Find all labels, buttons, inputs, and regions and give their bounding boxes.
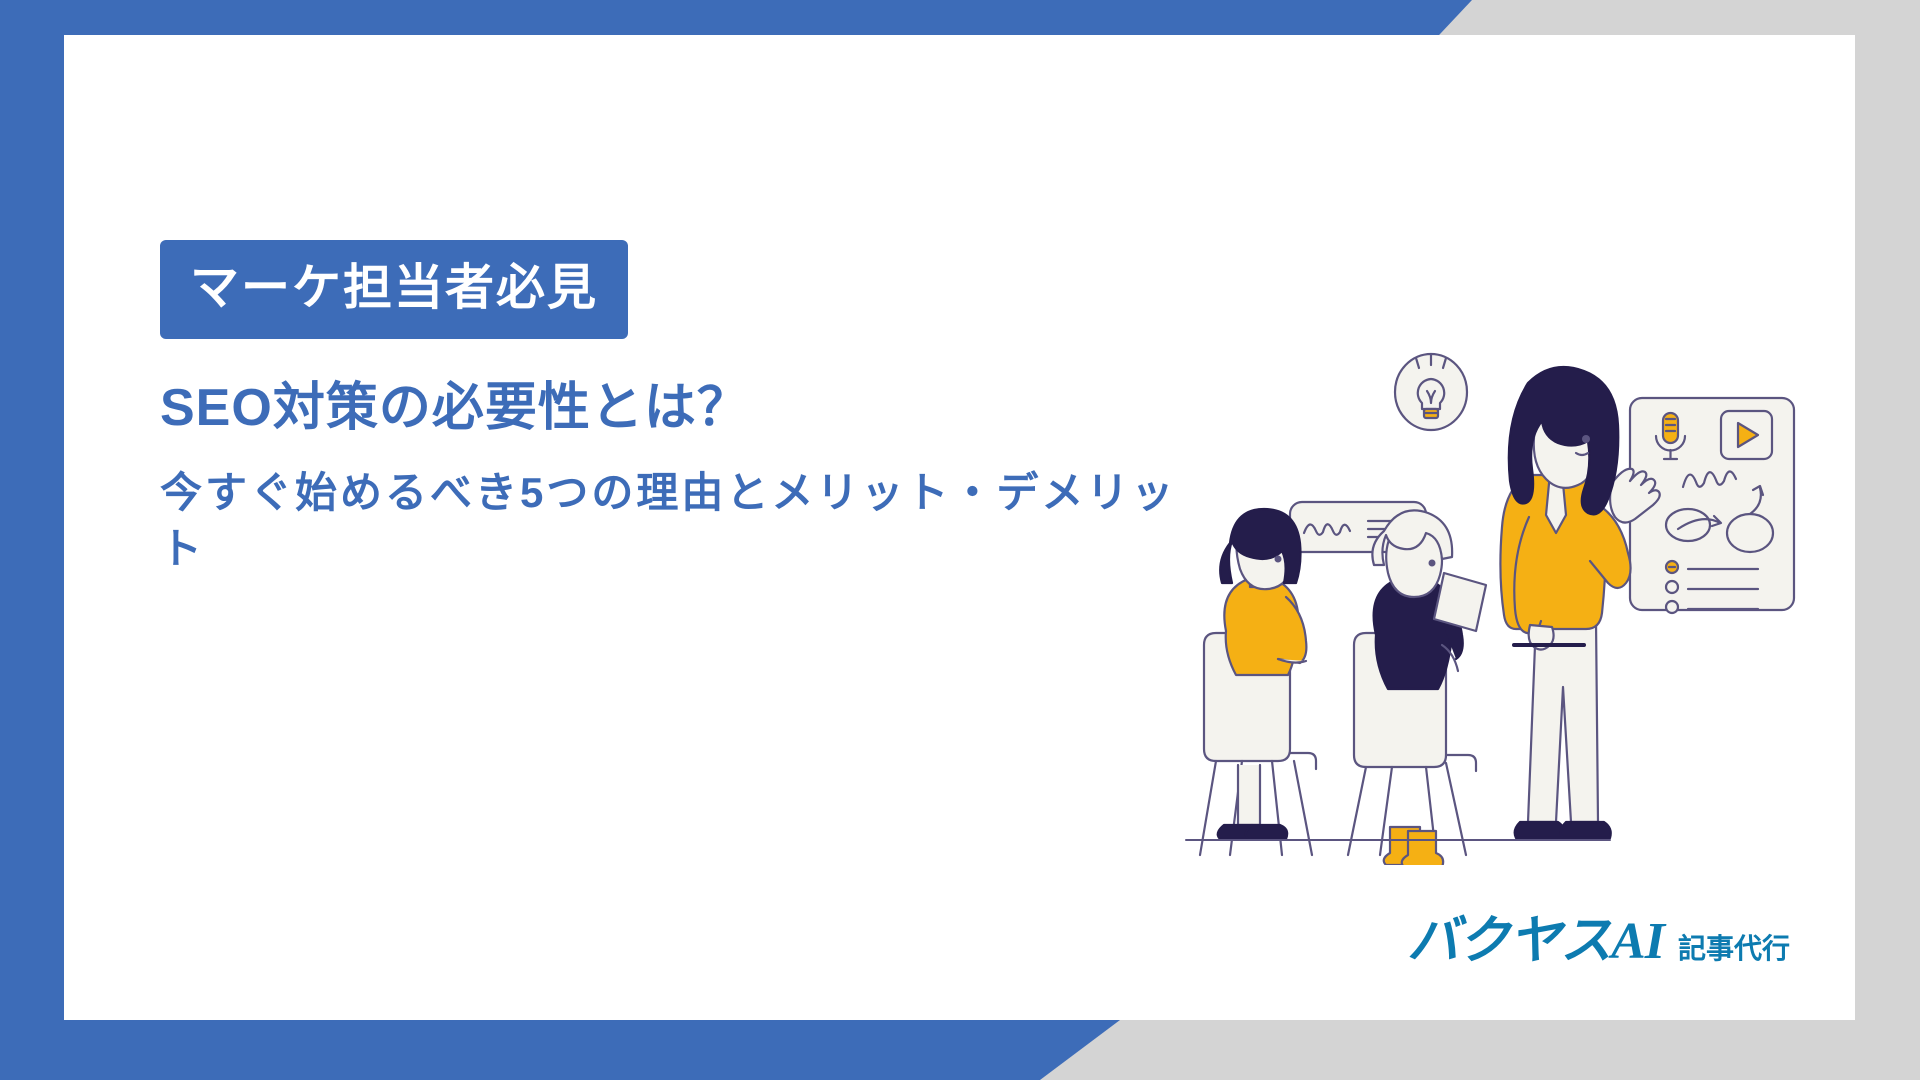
play-button-icon <box>1721 411 1772 459</box>
brand-logo-main: バクヤスAI <box>1407 916 1664 968</box>
audience-person-two-seated <box>1348 510 1486 865</box>
page-title: SEO対策の必要性とは？ <box>160 379 1200 439</box>
category-badge: マーケ担当者必見 <box>160 240 628 339</box>
lightbulb-thought-bubble <box>1395 354 1467 430</box>
bottom-left-blue-band <box>0 1020 1120 1080</box>
left-blue-strip-top <box>0 0 64 1080</box>
hero-text-block: マーケ担当者必見 SEO対策の必要性とは？ 今すぐ始めるべき5つの理由とメリット… <box>160 240 1200 578</box>
audience-person-one-seated <box>1200 509 1316 855</box>
presentation-illustration <box>1180 335 1840 865</box>
page-subtitle: 今すぐ始めるべき5つの理由とメリット・デメリット <box>160 465 1200 578</box>
whiteboard-panel <box>1630 398 1794 613</box>
brand-logo: バクヤスAI 記事代行 <box>1407 916 1790 968</box>
brand-logo-sub: 記事代行 <box>1678 935 1790 963</box>
